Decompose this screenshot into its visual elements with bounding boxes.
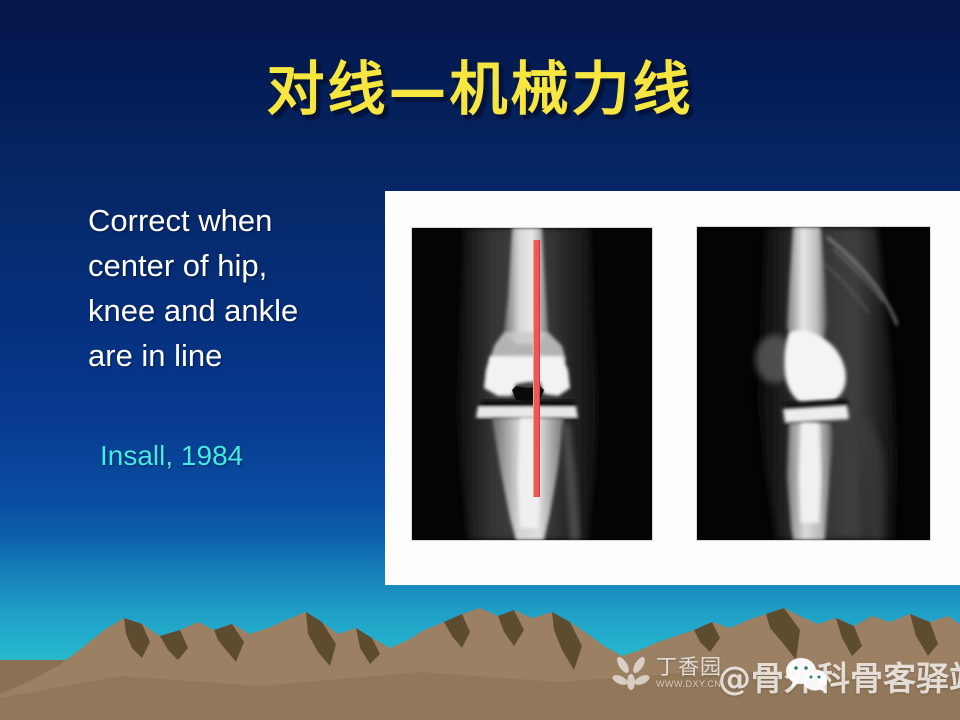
watermark-dxy-url: WWW.DXY.CN (656, 680, 722, 689)
body-line-2: center of hip, (88, 243, 378, 288)
lateral-knee-xray-image (697, 227, 930, 540)
slide-title: 对线—机械力线 (0, 42, 960, 126)
body-text: Correct when center of hip, knee and ank… (88, 198, 378, 378)
ap-knee-xray-image (412, 228, 652, 540)
citation: Insall, 1984 (100, 440, 243, 472)
lateral-knee-xray (697, 227, 930, 540)
body-line-1: Correct when (88, 198, 378, 243)
watermark-dxy-text: 丁香园 WWW.DXY.CN (656, 657, 722, 689)
body-line-4: are in line (88, 333, 378, 378)
mechanical-axis-line (533, 240, 540, 497)
presentation-slide: 对线—机械力线 Correct when center of hip, knee… (0, 0, 960, 720)
watermark-dxy: 丁香园 WWW.DXY.CN (612, 655, 722, 691)
ap-knee-xray (412, 228, 652, 540)
leaf-logo-icon (612, 655, 650, 691)
wechat-icon (784, 655, 828, 695)
body-line-3: knee and ankle (88, 288, 378, 333)
figure-panel (385, 191, 960, 585)
watermark-account: @骨外科骨客驿站 (718, 652, 960, 700)
watermark-dxy-name: 丁香园 (656, 657, 722, 678)
